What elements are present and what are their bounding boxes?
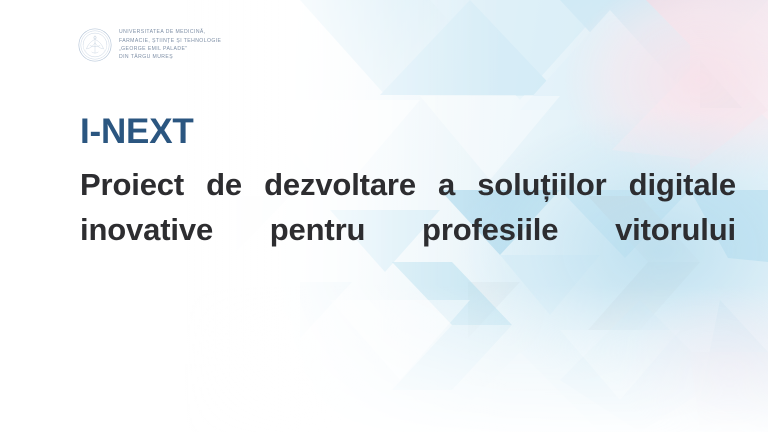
- presentation-slide: UNIVERSITATEA DE MEDICINĂ, FARMACIE, ȘTI…: [0, 0, 768, 432]
- slide-content: I-NEXT Proiect de dezvoltare a soluțiilo…: [80, 110, 736, 297]
- university-seal-icon: [78, 28, 112, 62]
- university-logo: UNIVERSITATEA DE MEDICINĂ, FARMACIE, ȘTI…: [78, 28, 221, 62]
- university-logo-text: UNIVERSITATEA DE MEDICINĂ, FARMACIE, ȘTI…: [119, 28, 221, 61]
- logo-line-1: UNIVERSITATEA DE MEDICINĂ,: [119, 28, 221, 36]
- logo-line-3: „GEORGE EMIL PALADE": [119, 45, 221, 53]
- project-title: I-NEXT: [80, 110, 736, 154]
- logo-line-2: FARMACIE, ȘTIINȚE ȘI TEHNOLOGIE: [119, 37, 221, 45]
- logo-line-4: DIN TÂRGU MUREȘ: [119, 53, 221, 61]
- project-subtitle: Proiect de dezvoltare a soluțiilor digit…: [80, 162, 736, 297]
